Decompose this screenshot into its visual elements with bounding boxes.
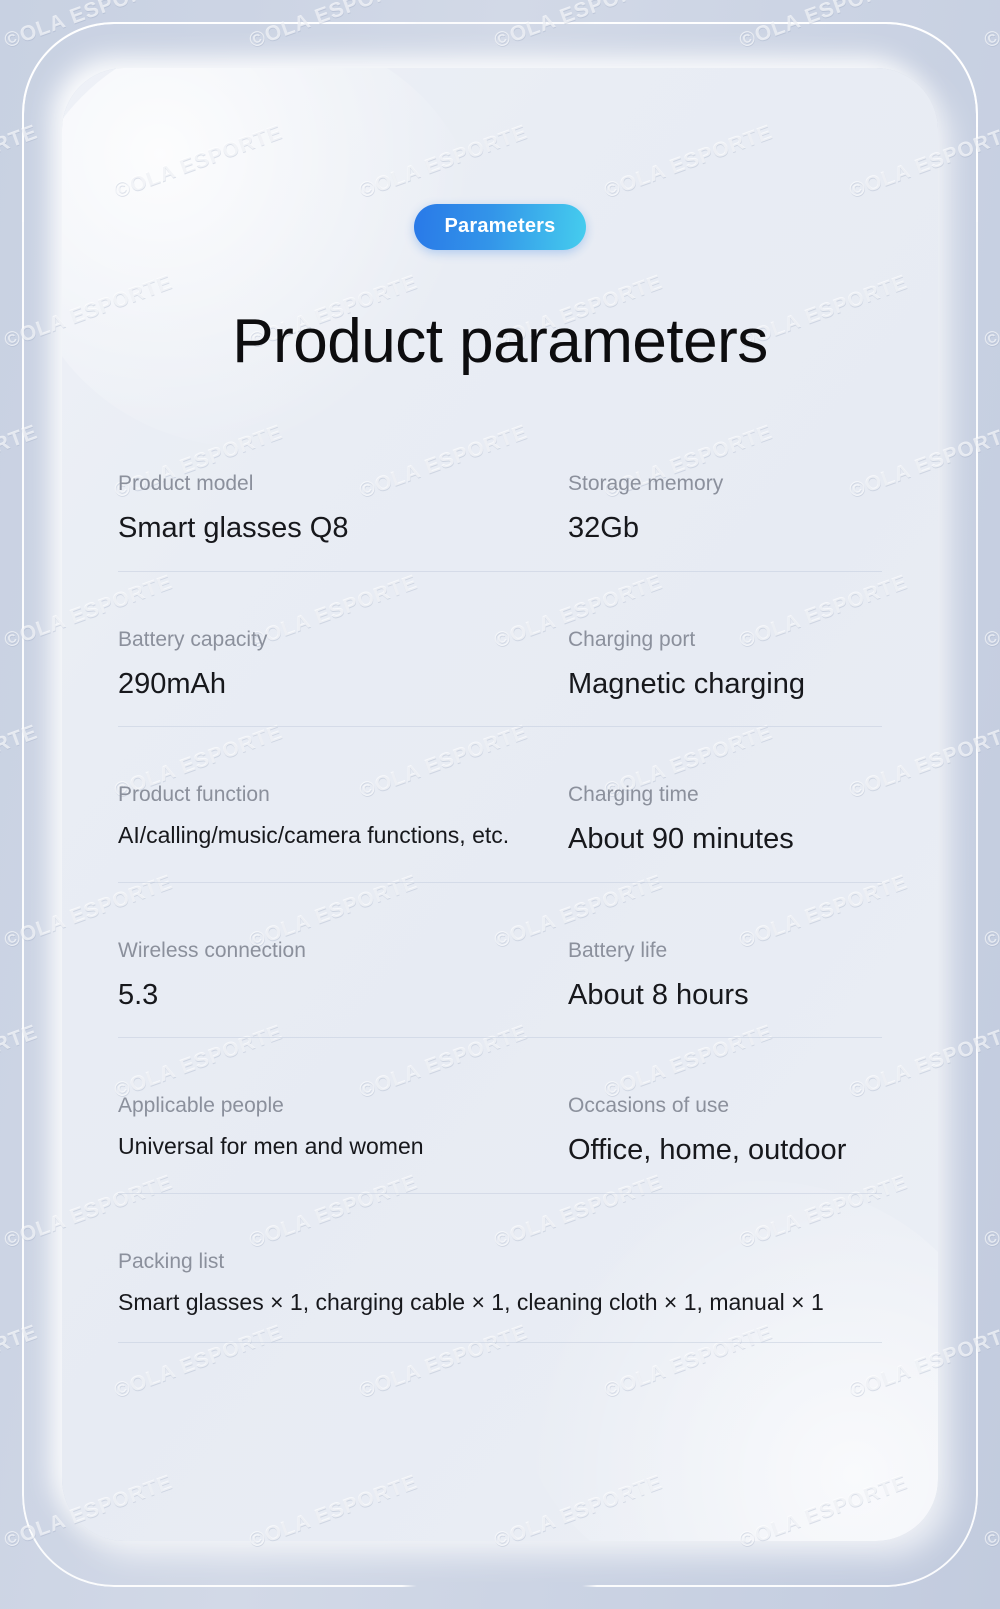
- spec-label: Applicable people: [118, 1094, 568, 1117]
- spec-row: Product model Smart glasses Q8 Storage m…: [118, 472, 882, 572]
- spec-value: Smart glasses × 1, charging cable × 1, c…: [118, 1290, 882, 1316]
- spec-label: Wireless connection: [118, 939, 568, 962]
- spec-cell: Charging port Magnetic charging: [568, 628, 882, 701]
- spec-row: Product function AI/calling/music/camera…: [118, 783, 882, 883]
- spec-value: AI/calling/music/camera functions, etc.: [118, 823, 568, 849]
- spec-label: Product model: [118, 472, 568, 495]
- spec-cell: Packing list Smart glasses × 1, charging…: [118, 1250, 882, 1316]
- spec-label: Occasions of use: [568, 1094, 882, 1117]
- spec-value: Magnetic charging: [568, 668, 882, 700]
- spec-table: Product model Smart glasses Q8 Storage m…: [118, 472, 882, 1343]
- spec-label: Product function: [118, 783, 568, 806]
- section-badge-wrap: Parameters: [62, 204, 938, 250]
- spec-value: Office, home, outdoor: [568, 1134, 882, 1166]
- spec-value: 32Gb: [568, 512, 882, 544]
- spec-label: Battery life: [568, 939, 882, 962]
- spec-value: Smart glasses Q8: [118, 512, 568, 544]
- spec-cell: Battery capacity 290mAh: [118, 628, 568, 701]
- spec-cell: Battery life About 8 hours: [568, 939, 882, 1012]
- spec-label: Charging time: [568, 783, 882, 806]
- spec-cell: Wireless connection 5.3: [118, 939, 568, 1012]
- spec-label: Battery capacity: [118, 628, 568, 651]
- parameters-badge: Parameters: [414, 204, 586, 250]
- spec-value: About 90 minutes: [568, 823, 882, 855]
- spec-cell: Product function AI/calling/music/camera…: [118, 783, 568, 856]
- spec-cell: Applicable people Universal for men and …: [118, 1094, 568, 1167]
- spec-cell: Occasions of use Office, home, outdoor: [568, 1094, 882, 1167]
- spec-value: Universal for men and women: [118, 1134, 568, 1160]
- spec-value: 290mAh: [118, 668, 568, 700]
- spec-row: Battery capacity 290mAh Charging port Ma…: [118, 628, 882, 728]
- spec-row: Wireless connection 5.3 Battery life Abo…: [118, 939, 882, 1039]
- spec-row: Packing list Smart glasses × 1, charging…: [118, 1250, 882, 1343]
- spec-value: About 8 hours: [568, 979, 882, 1011]
- page-title: Product parameters: [62, 306, 938, 377]
- spec-label: Storage memory: [568, 472, 882, 495]
- spec-value: 5.3: [118, 979, 568, 1011]
- spec-label: Packing list: [118, 1250, 882, 1273]
- spec-cell: Charging time About 90 minutes: [568, 783, 882, 856]
- spec-row: Applicable people Universal for men and …: [118, 1094, 882, 1194]
- spec-cell: Storage memory 32Gb: [568, 472, 882, 545]
- card-content: Parameters Product parameters Product mo…: [62, 68, 938, 1541]
- spec-label: Charging port: [568, 628, 882, 651]
- product-parameters-card: Parameters Product parameters Product mo…: [62, 68, 938, 1541]
- spec-cell: Product model Smart glasses Q8: [118, 472, 568, 545]
